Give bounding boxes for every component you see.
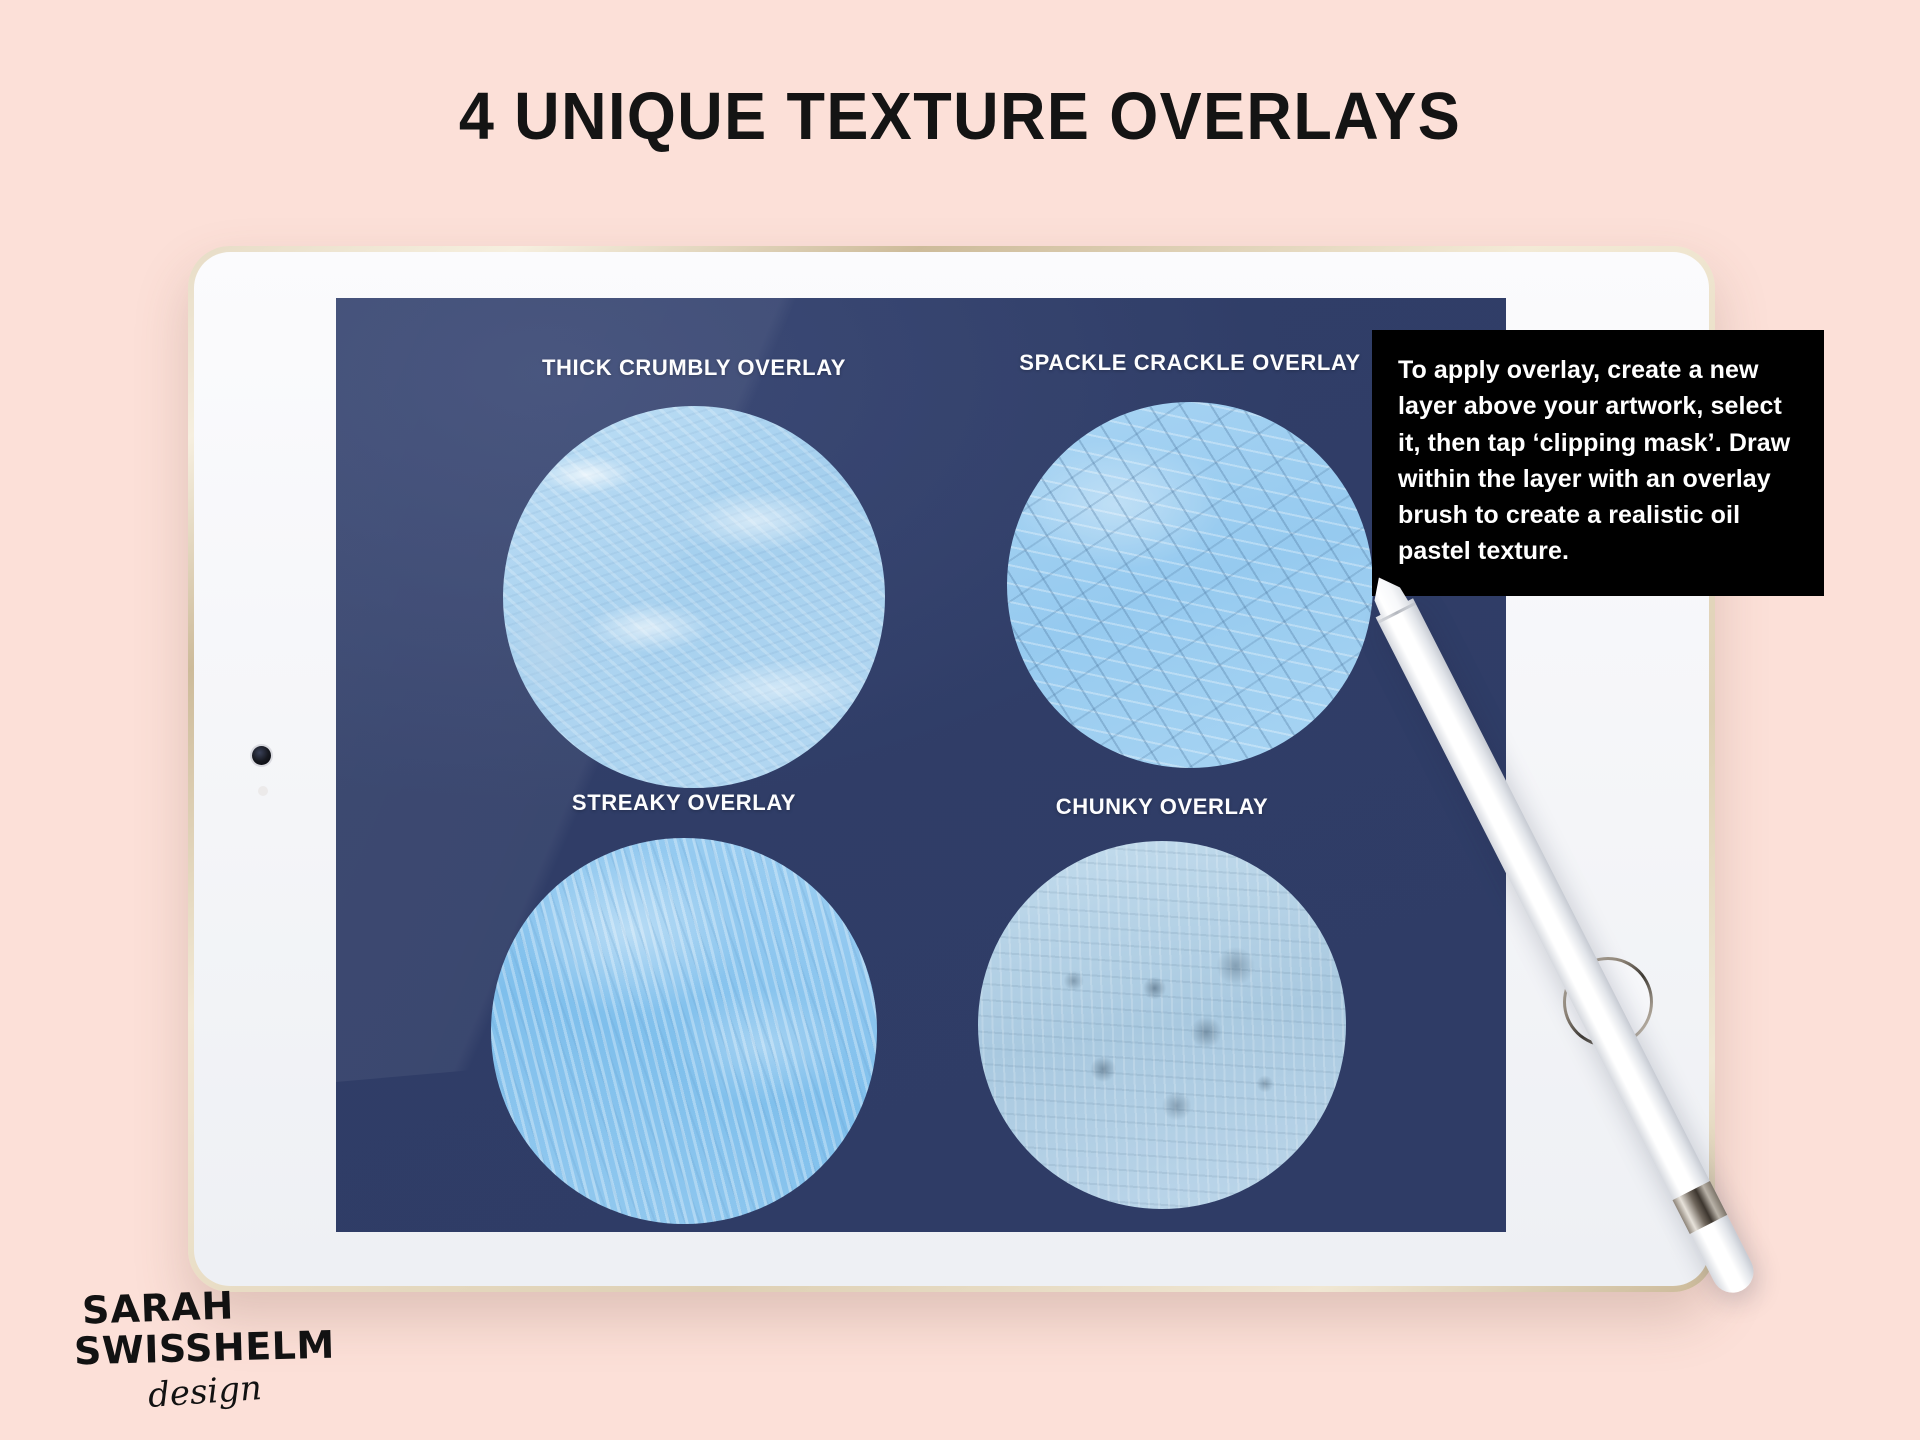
- swatch-spackle-crackle[interactable]: [1007, 402, 1373, 768]
- home-button[interactable]: [1563, 957, 1653, 1047]
- instruction-text: To apply overlay, create a new layer abo…: [1398, 352, 1798, 570]
- page-title: 4 UNIQUE TEXTURE OVERLAYS: [58, 78, 1863, 155]
- swatch-label-chunky: CHUNKY OVERLAY: [1056, 794, 1269, 820]
- swatch-label-thick-crumbly: THICK CRUMBLY OVERLAY: [542, 355, 846, 381]
- front-camera-icon: [252, 746, 271, 765]
- brand-logo: SARAH SWISSHELM design: [78, 1286, 308, 1416]
- swatch-thick-crumbly[interactable]: [503, 406, 885, 788]
- drawing-canvas[interactable]: THICK CRUMBLY OVERLAY SPACKLE CRACKLE OV…: [336, 298, 1506, 1232]
- texture-chunky: [978, 841, 1346, 1209]
- texture-crumbly: [503, 406, 885, 788]
- swatch-chunky[interactable]: [978, 841, 1346, 1209]
- instruction-callout: To apply overlay, create a new layer abo…: [1372, 330, 1824, 596]
- swatch-label-streaky: STREAKY OVERLAY: [572, 790, 796, 816]
- swatch-streaky[interactable]: [491, 838, 877, 1224]
- logo-line-swisshelm: SWISSHELM: [73, 1323, 335, 1374]
- swatch-label-spackle-crackle: SPACKLE CRACKLE OVERLAY: [1019, 350, 1360, 376]
- logo-line-design: design: [147, 1368, 263, 1416]
- texture-spackle: [1007, 402, 1373, 768]
- ambient-sensor-icon: [258, 786, 268, 796]
- texture-streaky: [491, 838, 877, 1224]
